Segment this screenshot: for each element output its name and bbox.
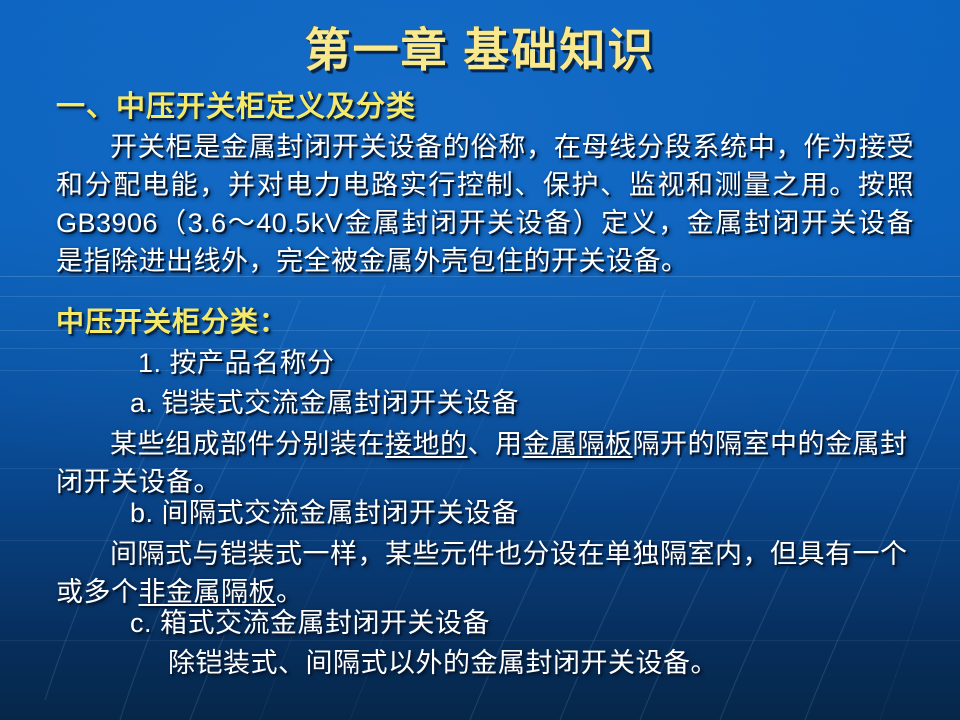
classification-heading: 中压开关柜分类： xyxy=(56,300,288,340)
item-a-desc-text-2: 、用 xyxy=(468,429,523,459)
list-item-1: 1. 按产品名称分 xyxy=(138,345,335,381)
item-b-desc-text-2: 。 xyxy=(276,577,304,607)
list-item-a: a. 铠装式交流金属封闭开关设备 xyxy=(130,385,519,421)
item-a-desc-underlined-1: 接地的 xyxy=(385,429,468,459)
section-heading: 一、中压开关柜定义及分类 xyxy=(56,83,416,125)
list-item-b-description: 间隔式与铠装式一样，某些元件也分设在单独隔室内，但具有一个或多个非金属隔板。 xyxy=(56,535,914,611)
item-a-desc-text-1: 某些组成部件分别装在 xyxy=(110,429,385,459)
item-b-desc-underlined-1: 非金属隔板 xyxy=(139,577,277,607)
definition-paragraph: 开关柜是金属封闭开关设备的俗称，在母线分段系统中，作为接受和分配电能，并对电力电… xyxy=(56,128,914,280)
item-a-desc-underlined-2: 金属隔板 xyxy=(523,429,633,459)
slide-content: 第一章 基础知识 一、中压开关柜定义及分类 开关柜是金属封闭开关设备的俗称，在母… xyxy=(0,0,960,720)
list-item-c-description: 除铠装式、间隔式以外的金属封闭开关设备。 xyxy=(168,645,718,681)
slide-canvas: 第一章 基础知识 一、中压开关柜定义及分类 开关柜是金属封闭开关设备的俗称，在母… xyxy=(0,0,960,720)
page-title: 第一章 基础知识 xyxy=(0,14,960,80)
list-item-b: b. 间隔式交流金属封闭开关设备 xyxy=(130,495,519,531)
list-item-c: c. 箱式交流金属封闭开关设备 xyxy=(130,605,490,641)
list-item-a-description: 某些组成部件分别装在接地的、用金属隔板隔开的隔室中的金属封闭开关设备。 xyxy=(56,425,914,501)
